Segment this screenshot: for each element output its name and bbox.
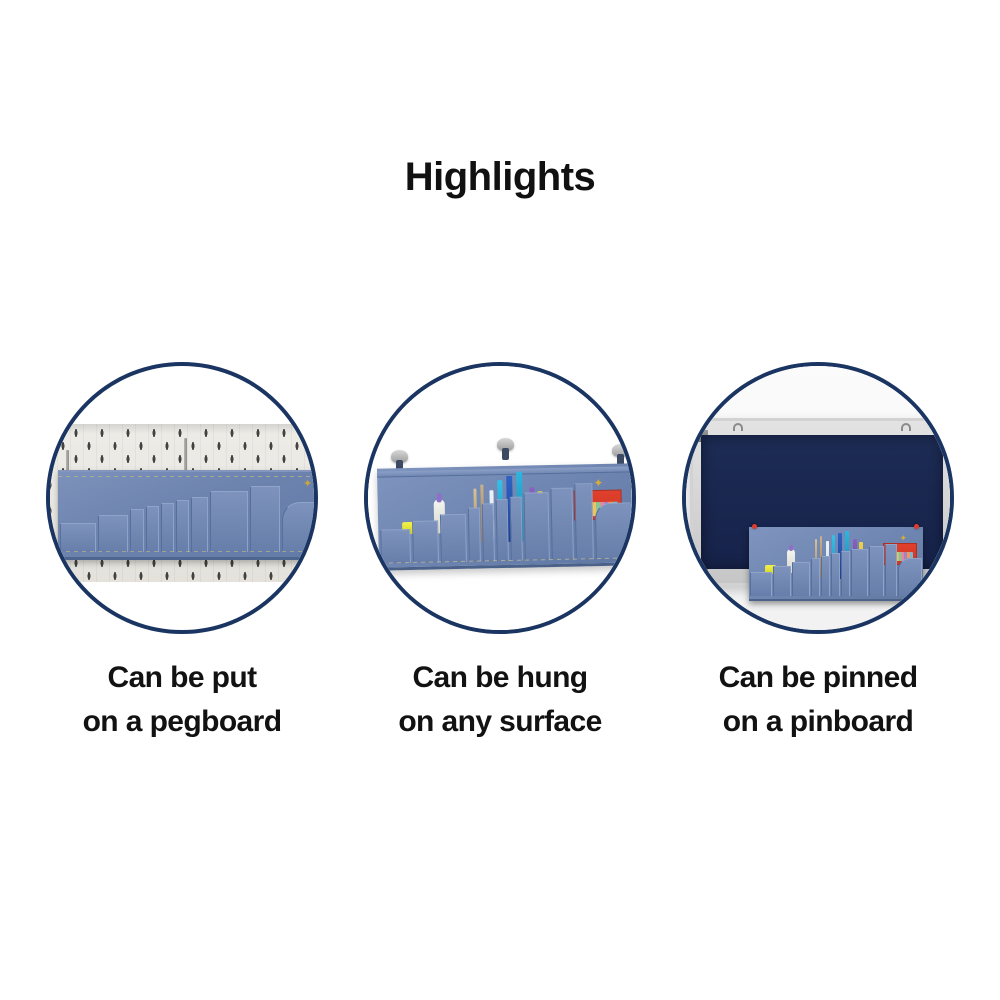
pocket <box>191 497 208 552</box>
pocket <box>161 503 174 552</box>
pocket <box>898 558 922 596</box>
pocket <box>440 514 467 563</box>
denim-organizer-body: ✦ <box>58 470 314 560</box>
pinboard-frame: ✦ <box>690 418 950 586</box>
hanging-strap <box>502 448 509 460</box>
pocket <box>60 523 96 552</box>
pocket-row <box>58 478 314 552</box>
feature-caption-any-surface: Can be hung on any surface <box>398 656 601 744</box>
pocket <box>176 500 189 552</box>
pocket <box>98 515 128 552</box>
pocket <box>773 566 791 596</box>
pocket <box>574 483 594 559</box>
pocket <box>811 558 820 596</box>
pegboard-hook-icon <box>184 438 187 474</box>
pocket <box>282 502 314 552</box>
denim-organizer-body: ✦ <box>377 463 632 570</box>
pocket <box>792 562 810 596</box>
pocket <box>250 486 280 552</box>
feature-pegboard: ✦ <box>44 362 320 744</box>
pocket <box>523 492 549 561</box>
feature-image-circle-pinboard: ✦ <box>682 362 954 634</box>
pocket <box>821 556 830 596</box>
pocket <box>380 529 411 564</box>
highlights-feature-row: ✦ <box>0 362 1000 744</box>
pocket <box>496 499 509 561</box>
frame-hanger-clip-icon <box>733 423 743 431</box>
pocket <box>412 520 439 563</box>
pocket <box>750 572 772 596</box>
denim-organizer-body: ✦ <box>749 527 923 601</box>
pocket <box>885 544 897 596</box>
pocket <box>210 491 248 552</box>
pocket <box>130 509 144 552</box>
pocket-row <box>749 536 923 596</box>
denim-organizer-hung-on-wall-photo: ✦ <box>368 366 632 630</box>
feature-caption-pegboard: Can be put on a pegboard <box>83 656 282 744</box>
pocket <box>482 503 495 561</box>
pocket <box>468 508 481 562</box>
feature-pinboard: ✦ <box>680 362 956 744</box>
pocket-row <box>377 472 632 563</box>
page-title: Highlights <box>0 155 1000 199</box>
pocket <box>550 488 574 560</box>
pocket <box>595 502 632 559</box>
denim-organizer-pinned-on-pinboard-photo: ✦ <box>686 366 950 630</box>
stitch-line <box>58 551 314 552</box>
pocket <box>831 553 840 596</box>
pocket <box>851 549 868 596</box>
denim-organizer-on-pegboard-photo: ✦ <box>50 366 314 630</box>
pocket <box>869 546 884 596</box>
feature-image-circle-pegboard: ✦ <box>46 362 318 634</box>
pocket <box>841 551 850 596</box>
push-pin-icon <box>914 524 919 529</box>
push-pin-icon <box>752 524 757 529</box>
frame-hanger-clip-icon <box>901 423 911 431</box>
highlights-page: Highlights ✦ <box>0 0 1000 1000</box>
pocket <box>146 506 159 552</box>
pinboard-navy-surface: ✦ <box>701 435 943 569</box>
feature-image-circle-any-surface: ✦ <box>364 362 636 634</box>
pegboard-top-shadow <box>50 424 314 434</box>
stitch-line <box>58 476 314 477</box>
feature-any-surface: ✦ <box>362 362 638 744</box>
pocket <box>510 497 523 561</box>
feature-caption-pinboard: Can be pinned on a pinboard <box>719 656 918 744</box>
